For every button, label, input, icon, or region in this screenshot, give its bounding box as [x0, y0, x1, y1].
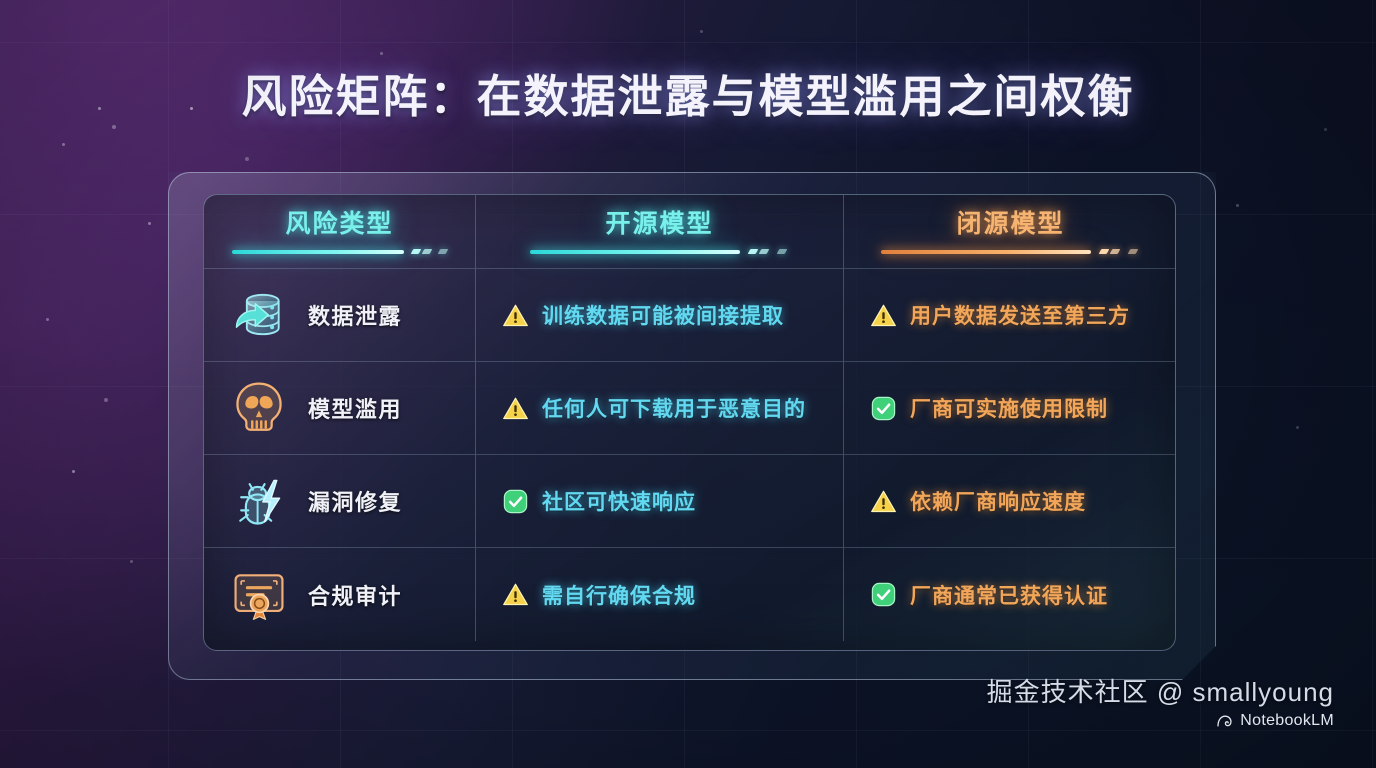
- closed-source-cell: 依赖厂商响应速度: [844, 455, 1176, 548]
- open-source-cell: 任何人可下载用于恶意目的: [476, 362, 844, 455]
- header-label: 闭源模型: [956, 204, 1064, 240]
- table-row: 模型滥用: [204, 362, 476, 455]
- star-dot: [112, 125, 116, 129]
- warning-triangle-icon: [502, 302, 529, 329]
- header-underline-bar: [881, 250, 1091, 254]
- footer: 掘金技术社区 @ smallyoung NotebookLM: [987, 672, 1334, 730]
- star-dot: [1324, 128, 1327, 131]
- warning-triangle-icon: [870, 302, 897, 329]
- star-dot: [700, 30, 703, 33]
- warning-triangle-icon: [502, 581, 529, 608]
- closed-source-cell: 厂商通常已获得认证: [844, 548, 1176, 641]
- star-dot: [245, 157, 249, 161]
- header-underline: [530, 249, 790, 255]
- check-badge-icon: [502, 488, 529, 515]
- header-label: 风险类型: [285, 204, 393, 240]
- header-underline-dash: [747, 249, 758, 254]
- risk-type-label: 漏洞修复: [308, 485, 402, 517]
- header-underline: [881, 249, 1141, 255]
- header-underline-dash: [1098, 249, 1109, 254]
- warning-triangle-icon: [870, 488, 897, 515]
- star-dot: [1236, 204, 1239, 207]
- bug-lightning-icon: [228, 470, 290, 532]
- check-badge-icon: [870, 581, 897, 608]
- header-underline-dash: [758, 249, 769, 254]
- table-grid: 风险类型 开源模型 闭源模型: [204, 195, 1175, 650]
- footer-brand-text: NotebookLM: [1240, 712, 1334, 730]
- warning-triangle-icon: [502, 395, 529, 422]
- slide-canvas: 风险矩阵：在数据泄露与模型滥用之间权衡 风险类型 开源模型: [0, 0, 1376, 768]
- page-title: 风险矩阵：在数据泄露与模型滥用之间权衡: [0, 60, 1376, 125]
- risk-type-label: 合规审计: [308, 579, 402, 611]
- star-dot: [104, 398, 108, 402]
- header-underline-dash: [411, 249, 422, 254]
- closed-source-value: 厂商可实施使用限制: [910, 393, 1108, 423]
- table-header-closed-source: 闭源模型: [844, 195, 1176, 269]
- skull-icon: [228, 377, 290, 439]
- closed-source-value: 厂商通常已获得认证: [910, 580, 1108, 610]
- open-source-value: 任何人可下载用于恶意目的: [542, 393, 806, 423]
- notebooklm-logo-icon: [1216, 714, 1234, 728]
- table-header-risk-type: 风险类型: [204, 195, 476, 269]
- closed-source-cell: 用户数据发送至第三方: [844, 269, 1176, 362]
- header-underline-bar: [530, 250, 740, 254]
- star-dot: [72, 470, 75, 473]
- footer-brand: NotebookLM: [987, 712, 1334, 730]
- closed-source-value: 用户数据发送至第三方: [910, 300, 1130, 330]
- star-dot: [62, 143, 65, 146]
- database-arrow-icon: [228, 284, 290, 346]
- star-dot: [380, 52, 383, 55]
- star-dot: [148, 222, 151, 225]
- star-dot: [46, 318, 49, 321]
- open-source-cell: 需自行确保合规: [476, 548, 844, 641]
- check-badge-icon: [870, 395, 897, 422]
- closed-source-value: 依赖厂商响应速度: [910, 486, 1086, 516]
- header-label: 开源模型: [605, 204, 713, 240]
- header-underline-dash: [438, 249, 449, 254]
- table-row: 漏洞修复: [204, 455, 476, 548]
- header-underline-dash: [1109, 249, 1120, 254]
- open-source-cell: 训练数据可能被间接提取: [476, 269, 844, 362]
- risk-matrix-table: 风险类型 开源模型 闭源模型: [203, 194, 1176, 651]
- header-underline-dash: [1127, 249, 1138, 254]
- certificate-icon: [228, 564, 290, 626]
- table-row: 合规审计: [204, 548, 476, 641]
- risk-type-label: 模型滥用: [308, 392, 402, 424]
- open-source-cell: 社区可快速响应: [476, 455, 844, 548]
- open-source-value: 需自行确保合规: [542, 580, 696, 610]
- header-underline-dash: [422, 249, 433, 254]
- header-underline-bar: [232, 250, 404, 254]
- table-header-open-source: 开源模型: [476, 195, 844, 269]
- table-row: 数据泄露: [204, 269, 476, 362]
- closed-source-cell: 厂商可实施使用限制: [844, 362, 1176, 455]
- header-underline: [232, 249, 447, 255]
- star-dot: [1296, 426, 1299, 429]
- star-dot: [130, 560, 133, 563]
- header-underline-dash: [776, 249, 787, 254]
- open-source-value: 社区可快速响应: [542, 486, 696, 516]
- footer-credit: 掘金技术社区 @ smallyoung: [987, 672, 1334, 709]
- open-source-value: 训练数据可能被间接提取: [542, 300, 784, 330]
- risk-type-label: 数据泄露: [308, 299, 402, 331]
